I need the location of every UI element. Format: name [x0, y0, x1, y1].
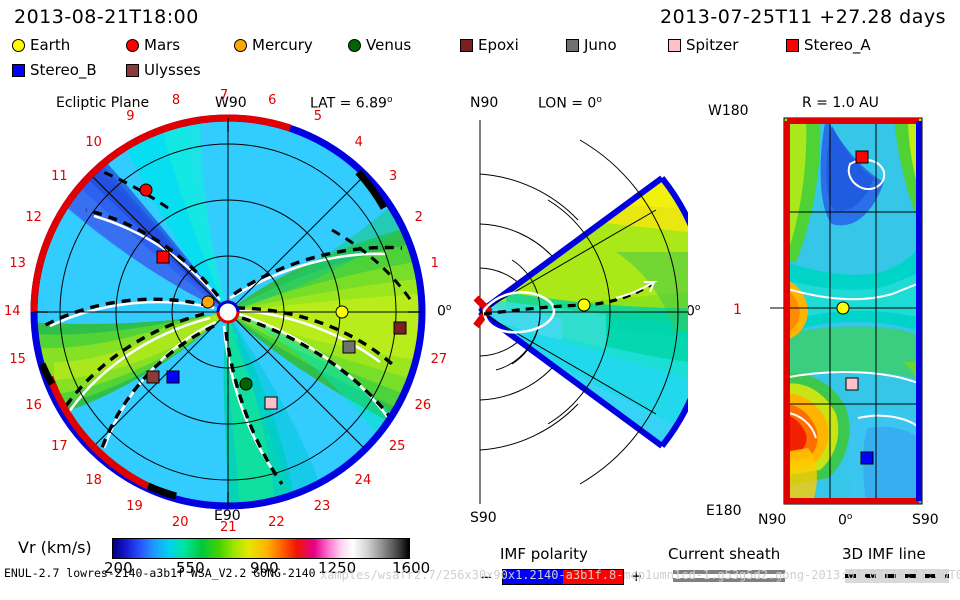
ecliptic-tick-11: 11: [51, 169, 68, 184]
ecliptic-tick-18: 18: [85, 473, 102, 488]
ecliptic-tick-23: 23: [314, 499, 331, 514]
legend-row-2: Stereo_B Ulysses: [0, 63, 960, 83]
ecliptic-marker-ulysses[interactable]: [147, 371, 160, 384]
shell-marker-earth[interactable]: [837, 302, 850, 315]
legend-item-earth: Earth: [12, 38, 70, 53]
legend-label: Mercury: [252, 38, 313, 53]
epoxi-marker-icon: [460, 39, 473, 52]
stereo-b-marker-icon: [12, 64, 25, 77]
shell-y-bottom-label: E180: [706, 503, 742, 519]
footer-run-id: ENUL-2.7 lowres-2140-a3b1f WSA_V2.2 GONG…: [4, 566, 316, 580]
ecliptic-tick-14: 14: [4, 304, 21, 319]
legend-item-stereo-a: Stereo_A: [786, 38, 871, 53]
right-datetime: 2013-07-25T11 +27.28 days: [660, 6, 946, 28]
legend-label: Stereo_A: [804, 38, 871, 53]
degree-sign: o: [695, 303, 701, 313]
legend-item-juno: Juno: [566, 38, 617, 53]
earth-marker-icon: [12, 39, 25, 52]
lon-value: LON = 0: [538, 96, 596, 112]
mercury-marker-icon: [234, 39, 247, 52]
ecliptic-tick-9: 9: [126, 109, 134, 124]
ecliptic-marker-juno[interactable]: [343, 341, 356, 354]
degree-sign: o: [847, 512, 853, 522]
zero-lat-shell: 0: [838, 513, 847, 529]
ecliptic-tick-17: 17: [51, 439, 68, 454]
ecliptic-tick-10: 10: [85, 135, 102, 150]
shell-x-right-label: S90: [912, 512, 939, 528]
ecliptic-marker-mars[interactable]: [140, 184, 153, 197]
sun-marker: [220, 304, 237, 321]
ecliptic-marker-mercury[interactable]: [202, 296, 215, 309]
ecliptic-tick-22: 22: [268, 515, 285, 530]
legend-label: Stereo_B: [30, 63, 97, 78]
meridional-svg: [466, 112, 688, 512]
wsa-enlil-visualization: 2013-08-21T18:00 2013-07-25T11 +27.28 da…: [0, 0, 960, 600]
degree-sign: o: [446, 303, 452, 313]
spitzer-marker-icon: [668, 39, 681, 52]
shell-x-left-label: N90: [758, 512, 786, 528]
stereo-a-marker-icon: [786, 39, 799, 52]
mars-marker-icon: [126, 39, 139, 52]
ecliptic-tick-19: 19: [126, 499, 143, 514]
ecliptic-marker-earth[interactable]: [336, 306, 349, 319]
degree-sign: o: [387, 95, 393, 105]
ecliptic-tick-12: 12: [25, 210, 42, 225]
ecliptic-tick-8: 8: [172, 93, 180, 108]
legend-label: Ulysses: [144, 63, 201, 78]
legend-label: Mars: [144, 38, 180, 53]
ecliptic-marker-venus[interactable]: [240, 378, 253, 391]
zero-lon: 0: [437, 304, 446, 320]
ecliptic-marker-spitzer[interactable]: [265, 397, 278, 410]
ecliptic-tick-26: 26: [415, 398, 432, 413]
legend-row-1: Earth Mars Mercury Venus Epoxi Juno Spit…: [0, 38, 960, 58]
ecliptic-tick-27: 27: [431, 352, 448, 367]
meridional-bottom-label: S90: [470, 510, 497, 526]
venus-marker-icon: [348, 39, 361, 52]
ulysses-marker-icon: [126, 64, 139, 77]
legend-item-mercury: Mercury: [234, 38, 313, 53]
ecliptic-tick-24: 24: [355, 473, 372, 488]
shell-marker-stereo-a[interactable]: [856, 151, 869, 164]
shell-x-mid-label: 0o: [838, 512, 852, 529]
ecliptic-tick-25: 25: [389, 439, 406, 454]
footer-watermark: xamples/wsafr2.7/256x30x90x1.2140-a3b1f.…: [320, 568, 960, 582]
shell-panel-title: R = 1.0 AU: [802, 95, 879, 111]
shell-marker-spitzer[interactable]: [846, 378, 859, 391]
legend-label: Juno: [584, 38, 617, 53]
legend-item-venus: Venus: [348, 38, 411, 53]
shell-y-mid-label: 1: [733, 302, 742, 318]
shell-field-raster: [784, 118, 922, 504]
degree-sign: o: [596, 95, 602, 105]
ecliptic-tick-16: 16: [25, 398, 42, 413]
legend-item-epoxi: Epoxi: [460, 38, 519, 53]
ecliptic-tick-20: 20: [172, 515, 189, 530]
ecliptic-tick-1: 1: [431, 256, 439, 271]
shell-svg: [762, 112, 944, 510]
colorbar-title: Vr (km/s): [18, 538, 92, 557]
ecliptic-marker-stereo-b[interactable]: [167, 371, 180, 384]
legend-label: Spitzer: [686, 38, 738, 53]
ecliptic-tick-4: 4: [355, 135, 363, 150]
left-datetime: 2013-08-21T18:00: [14, 6, 199, 28]
colorbar[interactable]: [112, 538, 410, 559]
ecliptic-tick-2: 2: [415, 210, 423, 225]
ecliptic-tick-21: 21: [220, 520, 237, 535]
ecliptic-tick-3: 3: [389, 169, 397, 184]
ecliptic-panel-title: Ecliptic Plane: [56, 95, 149, 111]
ecliptic-tick-6: 6: [268, 93, 276, 108]
legend-item-ulysses: Ulysses: [126, 63, 201, 78]
ecliptic-tick-15: 15: [9, 352, 26, 367]
ecliptic-tick-13: 13: [9, 256, 26, 271]
current-sheath-title: Current sheath: [668, 545, 780, 563]
shell-plot[interactable]: [762, 112, 944, 510]
legend-label: Earth: [30, 38, 70, 53]
meridional-right-label: 0o: [686, 303, 700, 320]
legend-item-mars: Mars: [126, 38, 180, 53]
imf-line-title: 3D IMF line: [842, 545, 926, 563]
legend-label: Epoxi: [478, 38, 519, 53]
shell-y-top-label: W180: [708, 103, 749, 119]
legend-label: Venus: [366, 38, 411, 53]
ecliptic-right-label: 0o: [437, 303, 451, 320]
imf-polarity-title: IMF polarity: [500, 545, 588, 563]
legend-item-stereo-b: Stereo_B: [12, 63, 97, 78]
meridional-top-left-label: N90: [470, 95, 498, 111]
ecliptic-marker-stereo-a[interactable]: [157, 251, 170, 264]
ecliptic-tick-7: 7: [220, 88, 228, 103]
meridional-lon-label: LON = 0o: [538, 95, 602, 112]
legend-item-spitzer: Spitzer: [668, 38, 738, 53]
ecliptic-lat-label: LAT = 6.89o: [310, 95, 392, 112]
ecliptic-plane-plot[interactable]: [28, 112, 428, 512]
ecliptic-marker-epoxi[interactable]: [394, 322, 407, 335]
meridional-plot[interactable]: [466, 112, 688, 512]
shell-marker-stereo-b[interactable]: [861, 452, 874, 465]
meridional-marker-earth[interactable]: [578, 299, 591, 312]
juno-marker-icon: [566, 39, 579, 52]
ecliptic-tick-5: 5: [314, 109, 322, 124]
